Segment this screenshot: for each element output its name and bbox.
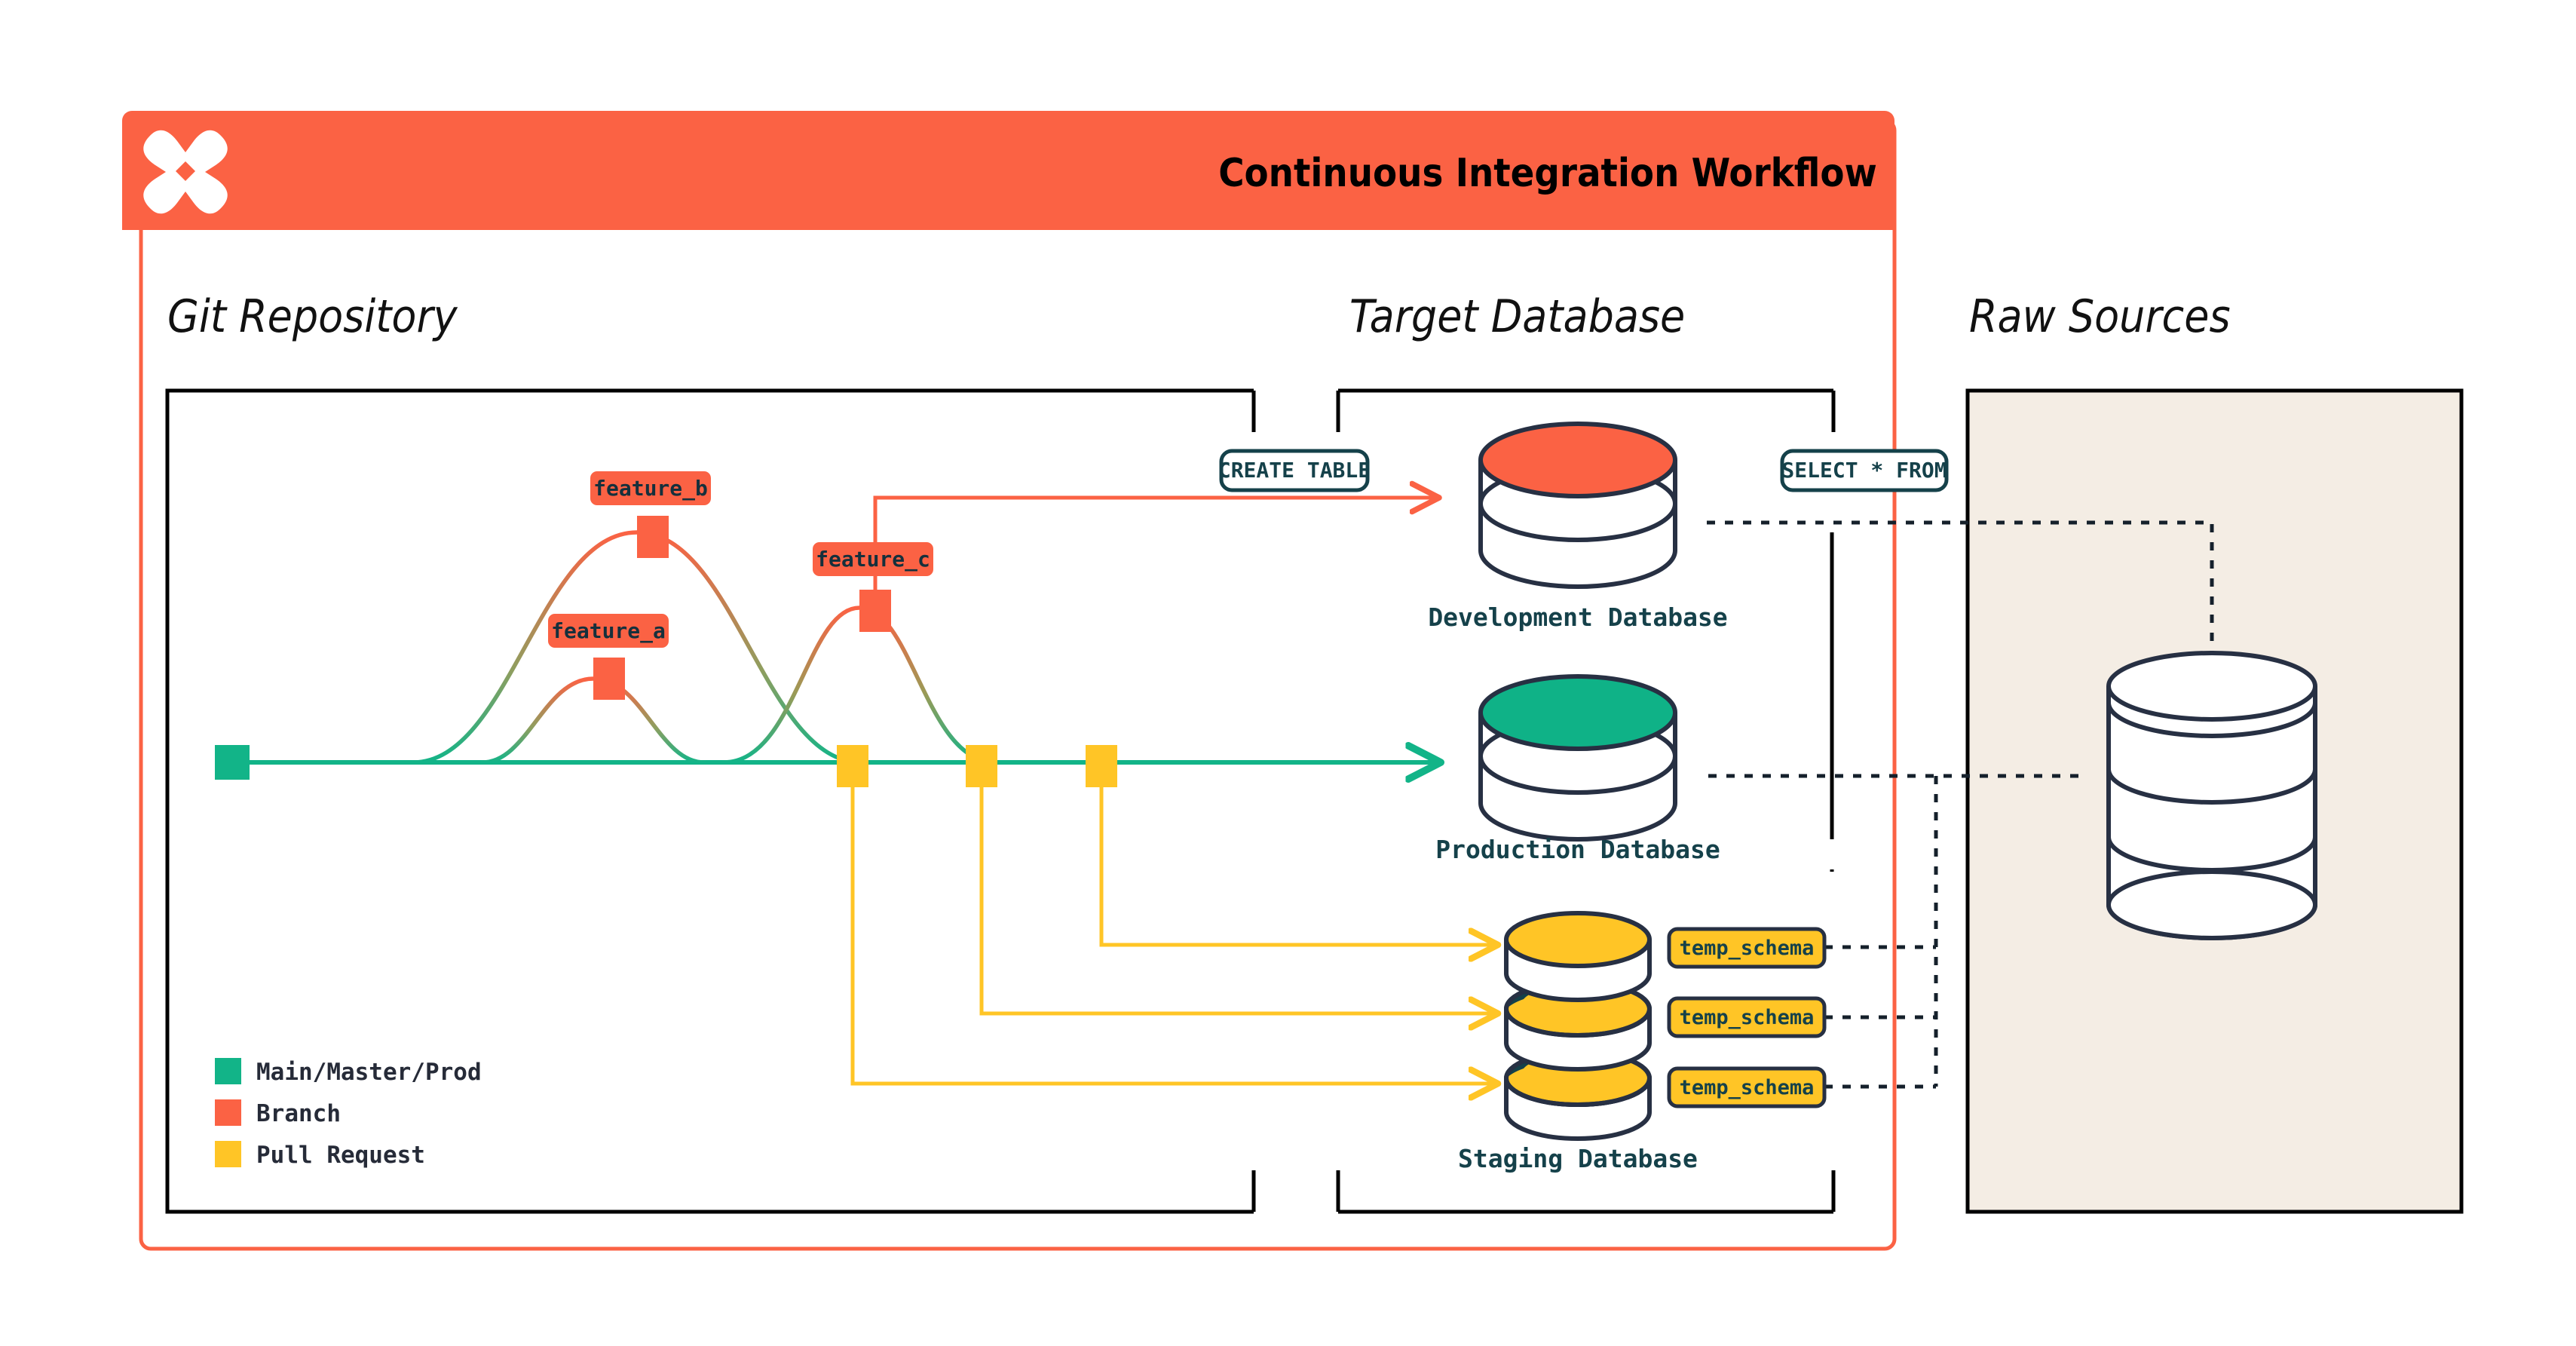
database-caption-production: Production Database: [1435, 835, 1720, 864]
diagram-root: Continuous Integration Workflow Git Repo…: [0, 0, 2576, 1346]
legend: Main/Master/Prod Branch Pull Request: [215, 1058, 482, 1169]
schema-badge-temp-schema-1[interactable]: temp_schema: [1669, 929, 1824, 967]
section-heading-target-database: Target Database: [1349, 290, 1685, 343]
section-heading-git-repository: Git Repository: [167, 290, 458, 343]
operation-pill-create-table[interactable]: CREATE TABLE: [1218, 451, 1371, 490]
operation-pill-select-from-label: SELECT * FROM: [1781, 458, 1947, 483]
database-caption-staging: Staging Database: [1458, 1144, 1698, 1173]
schema-badge-temp-schema-2[interactable]: temp_schema: [1669, 998, 1824, 1036]
branch-badge-feature-a-label: feature_a: [551, 618, 666, 643]
branch-badge-feature-c[interactable]: feature_c: [813, 542, 933, 576]
database-caption-development: Development Database: [1428, 602, 1727, 632]
branch-badge-feature-b[interactable]: feature_b: [590, 471, 711, 505]
legend-item-pull-request-label: Pull Request: [256, 1142, 425, 1169]
legend-item-branch-label: Branch: [256, 1100, 341, 1127]
schema-badge-temp-schema-2-label: temp_schema: [1680, 1006, 1815, 1029]
operation-pill-select-from[interactable]: SELECT * FROM: [1781, 451, 1947, 490]
legend-item-main-label: Main/Master/Prod: [256, 1059, 482, 1086]
page-title: Continuous Integration Workflow: [1218, 151, 1877, 196]
branch-badge-feature-b-label: feature_b: [593, 476, 708, 501]
branch-badge-feature-c-label: feature_c: [816, 547, 930, 572]
legend-item-branch[interactable]: Branch: [215, 1099, 341, 1127]
section-heading-raw-sources: Raw Sources: [1969, 290, 2231, 343]
branch-badge-feature-a[interactable]: feature_a: [548, 614, 669, 648]
operation-pill-create-table-label: CREATE TABLE: [1218, 458, 1371, 483]
legend-item-main[interactable]: Main/Master/Prod: [215, 1058, 482, 1086]
text-layer: Continuous Integration Workflow Git Repo…: [0, 0, 2576, 1346]
schema-badge-temp-schema-1-label: temp_schema: [1680, 937, 1815, 960]
legend-item-pull-request[interactable]: Pull Request: [215, 1141, 425, 1169]
schema-badge-temp-schema-3-label: temp_schema: [1680, 1076, 1815, 1099]
schema-badge-temp-schema-3[interactable]: temp_schema: [1669, 1069, 1824, 1106]
